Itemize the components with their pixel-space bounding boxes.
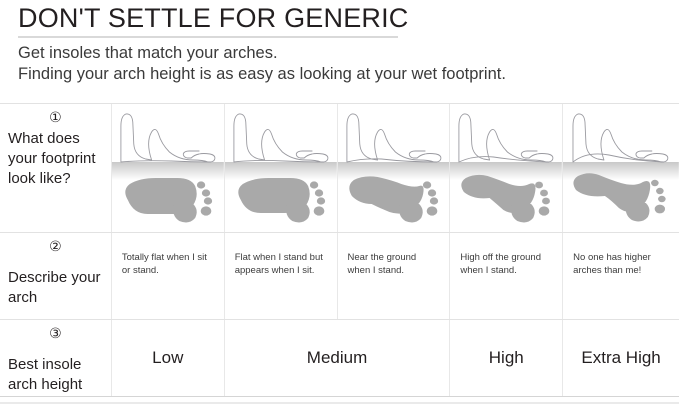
footprint-cell-extra-high [563,104,679,232]
subtitle-line-2: Finding your arch height is as easy as l… [18,64,661,85]
footprint-cell-high [450,104,563,232]
insole-height-low-label: Low [152,348,183,368]
row-label-2: Describe your arch [8,268,103,308]
table-row-describe: ② Describe your arch Totally flat when I… [0,232,679,319]
footprint-illustration-flat [112,104,224,232]
row-number-2: ② [8,239,103,256]
infographic-page: DON'T SETTLE FOR GENERIC Get insoles tha… [0,0,679,407]
bottom-divider [0,402,679,404]
row-header-footprint: ① What does your footprint look like? [0,104,112,232]
description-cell-flat: Totally flat when I sit or stand. [112,233,225,319]
row-header-insole: ③ Best insole arch height [0,320,112,396]
insole-height-medium: Medium [225,320,451,396]
description-cell-low: Flat when I stand but appears when I sit… [225,233,338,319]
table-row-insole-height: ③ Best insole arch height Low Medium Hig… [0,319,679,396]
footprint-cell-low [225,104,338,232]
table-row-footprint-images: ① What does your footprint look like? [0,104,679,232]
row-label-3: Best insole arch height [8,355,103,395]
insole-height-high-label: High [489,348,524,368]
description-cell-high: High off the ground when I stand. [450,233,563,319]
footprint-illustration-high [450,104,562,232]
description-text-extra-high: No one has higher arches than me! [563,233,679,277]
subtitle: Get insoles that match your arches. Find… [18,43,661,85]
footprint-cell-flat [112,104,225,232]
description-text-flat: Totally flat when I sit or stand. [112,233,224,277]
description-cell-extra-high: No one has higher arches than me! [563,233,679,319]
description-text-high: High off the ground when I stand. [450,233,562,277]
row-header-describe: ② Describe your arch [0,233,112,319]
row-number-1: ① [8,110,103,127]
footprint-illustration-medium [338,104,450,232]
footprint-illustration-low [225,104,337,232]
footprint-cell-medium [338,104,451,232]
row-label-1: What does your footprint look like? [8,129,103,189]
arch-comparison-table: ① What does your footprint look like? [0,103,679,397]
insole-height-low: Low [112,320,225,396]
insole-height-high: High [450,320,563,396]
description-text-medium: Near the ground when I stand. [338,233,450,277]
title-divider [18,36,398,38]
description-cell-medium: Near the ground when I stand. [338,233,451,319]
insole-height-extra-high: Extra High [563,320,679,396]
footprint-illustration-extra-high [563,104,679,232]
header: DON'T SETTLE FOR GENERIC Get insoles tha… [0,0,679,85]
row-number-3: ③ [8,326,103,343]
subtitle-line-1: Get insoles that match your arches. [18,43,661,64]
insole-height-medium-label: Medium [307,348,367,368]
insole-height-extra-high-label: Extra High [581,348,660,368]
description-text-low: Flat when I stand but appears when I sit… [225,233,337,277]
page-title: DON'T SETTLE FOR GENERIC [18,0,661,33]
